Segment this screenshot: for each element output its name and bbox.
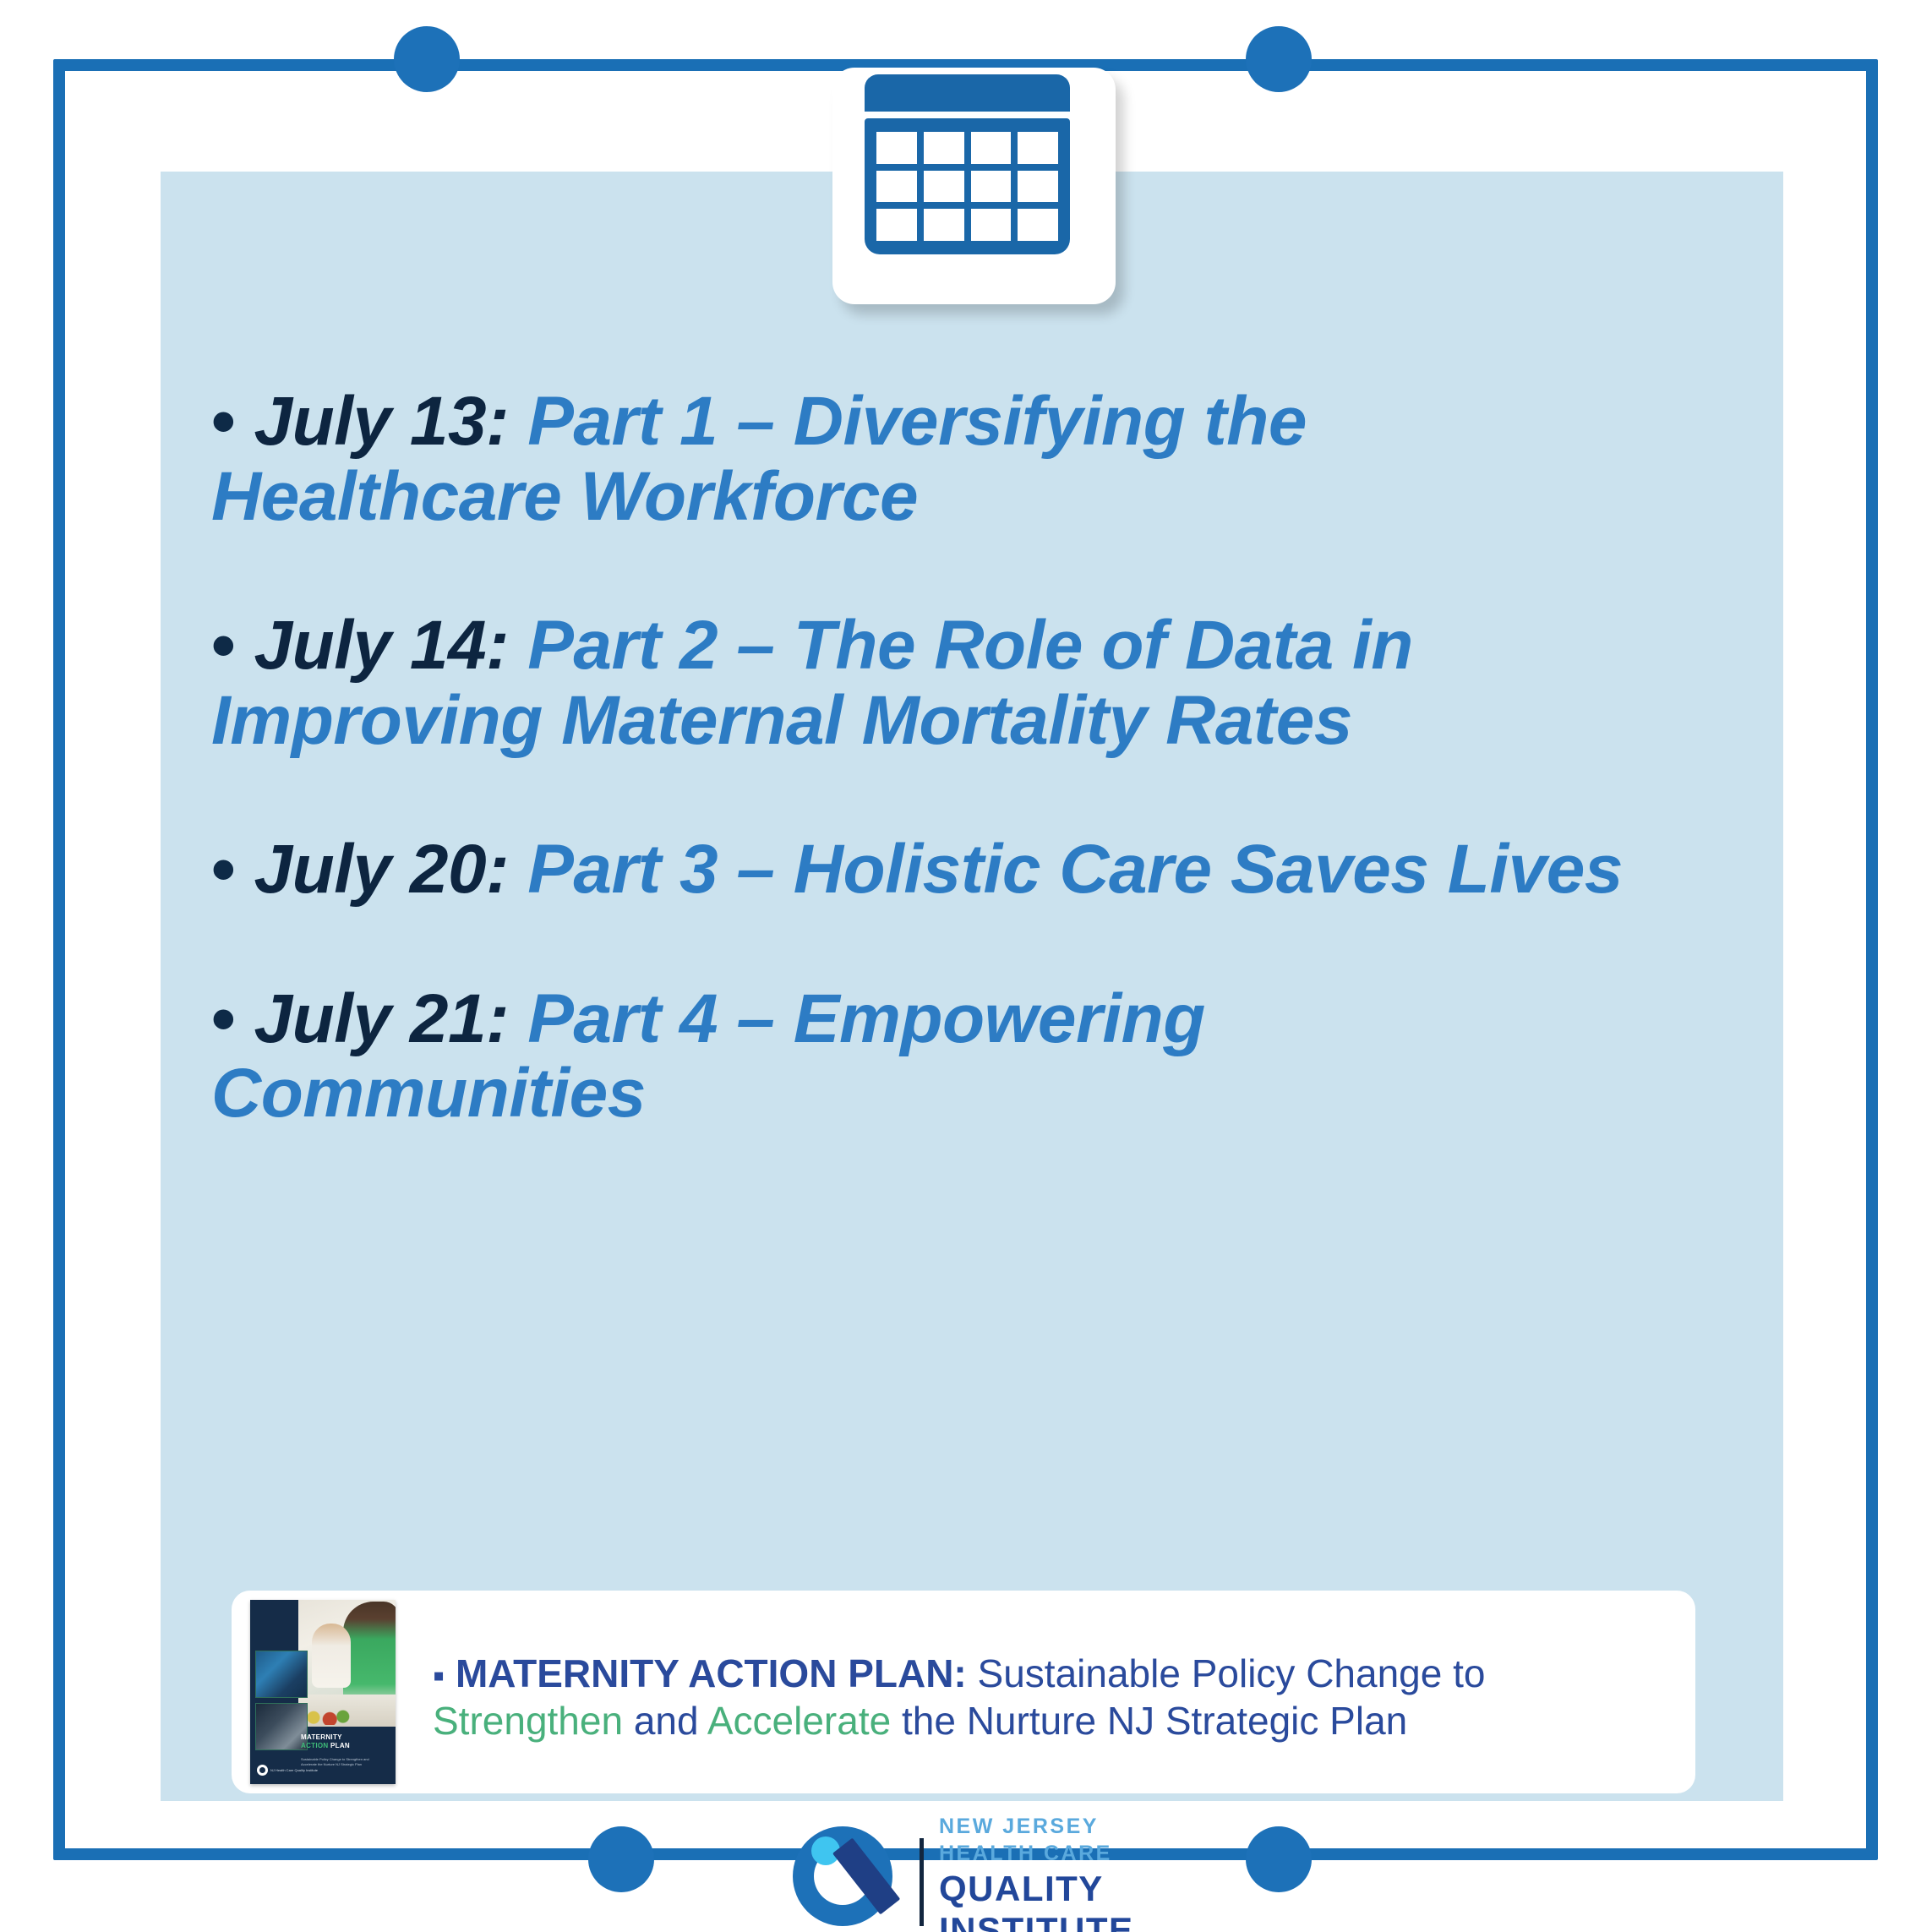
frame-dot-top-right — [1246, 26, 1312, 92]
report-tagline-strengthen: Strengthen — [433, 1699, 623, 1743]
list-item: • July 20: Part 3 – Holistic Care Saves … — [211, 832, 1640, 908]
poster-canvas: • July 13: Part 1 – Diversifying the Hea… — [0, 0, 1932, 1932]
njhcqi-logo: NEW JERSEY HEALTH CARE QUALITY INSTITUTE — [793, 1814, 1134, 1932]
square-bullet-icon: ▪ — [433, 1657, 445, 1695]
bullet-marker: • — [211, 980, 235, 1057]
frame-dot-bottom-left — [588, 1826, 654, 1892]
list-item: • July 14: Part 2 – The Role of Data in … — [211, 609, 1640, 758]
cover-logo-text: NJ Health Care Quality Institute — [270, 1768, 318, 1772]
cover-title-line2-rest: PLAN — [328, 1742, 350, 1749]
cover-thumb-photo-2 — [255, 1703, 308, 1750]
report-tagline-accelerate: Accelerate — [707, 1699, 891, 1743]
calendar-grid — [865, 118, 1070, 254]
report-cover-thumbnail: MATERNITY ACTION PLAN Sustainable Policy… — [250, 1600, 396, 1784]
frame-dot-top-left — [394, 26, 460, 92]
cover-photo — [298, 1600, 396, 1727]
logo-line-quality: QUALITY — [939, 1869, 1134, 1908]
frame-dot-bottom-right — [1246, 1826, 1312, 1892]
logo-line-new-jersey: NEW JERSEY — [939, 1814, 1134, 1841]
calendar-cell — [1018, 209, 1058, 241]
bullet-marker: • — [211, 831, 235, 908]
cover-logo-mark — [257, 1765, 268, 1776]
report-banner-text: ▪ MATERNITY ACTION PLAN: Sustainable Pol… — [433, 1650, 1684, 1744]
cover-title-line1: MATERNITY — [301, 1733, 342, 1741]
list-item: • July 13: Part 1 – Diversifying the Hea… — [211, 385, 1640, 534]
logo-line-health-care: HEALTH CARE — [939, 1841, 1134, 1868]
report-tagline-part1: Sustainable Policy Change to — [967, 1651, 1486, 1695]
calendar-cell — [971, 132, 1012, 164]
bullet-marker: • — [211, 383, 235, 460]
cover-logo: NJ Health Care Quality Institute — [257, 1765, 318, 1776]
calendar-cell — [876, 171, 917, 203]
calendar-cell — [1018, 171, 1058, 203]
session-date: July 14: — [254, 607, 509, 684]
logo-wordmark: NEW JERSEY HEALTH CARE QUALITY INSTITUTE — [939, 1814, 1134, 1932]
cover-photo-baby — [312, 1624, 351, 1688]
cover-thumb-photo-1 — [255, 1651, 308, 1698]
calendar-header-bar — [865, 74, 1070, 112]
report-tagline-and: and — [623, 1699, 707, 1743]
calendar-cell — [924, 132, 964, 164]
calendar-cell — [924, 171, 964, 203]
calendar-cell — [876, 132, 917, 164]
bullet-marker: • — [211, 607, 235, 684]
calendar-cell — [1018, 132, 1058, 164]
cover-photo-produce — [303, 1706, 354, 1725]
session-date: July 13: — [254, 383, 509, 460]
cover-title: MATERNITY ACTION PLAN — [301, 1733, 350, 1750]
calendar-cell — [876, 209, 917, 241]
logo-line-institute: INSTITUTE — [939, 1911, 1134, 1932]
session-date: July 21: — [254, 980, 509, 1057]
report-tagline-tail: the Nurture NJ Strategic Plan — [891, 1699, 1407, 1743]
session-date: July 20: — [254, 831, 509, 908]
list-item: • July 21: Part 4 – Empowering Communiti… — [211, 982, 1640, 1132]
calendar-cell — [924, 209, 964, 241]
report-name: MATERNITY ACTION PLAN: — [456, 1651, 967, 1695]
schedule-list: • July 13: Part 1 – Diversifying the Hea… — [211, 385, 1640, 1132]
calendar-cell — [971, 209, 1012, 241]
calendar-cell — [971, 171, 1012, 203]
quality-institute-q-icon — [793, 1826, 904, 1932]
logo-divider — [920, 1838, 924, 1926]
session-title: Part 3 – Holistic Care Saves Lives — [527, 831, 1623, 908]
cover-title-line2-green: ACTION — [301, 1742, 328, 1749]
calendar-icon — [865, 74, 1070, 254]
